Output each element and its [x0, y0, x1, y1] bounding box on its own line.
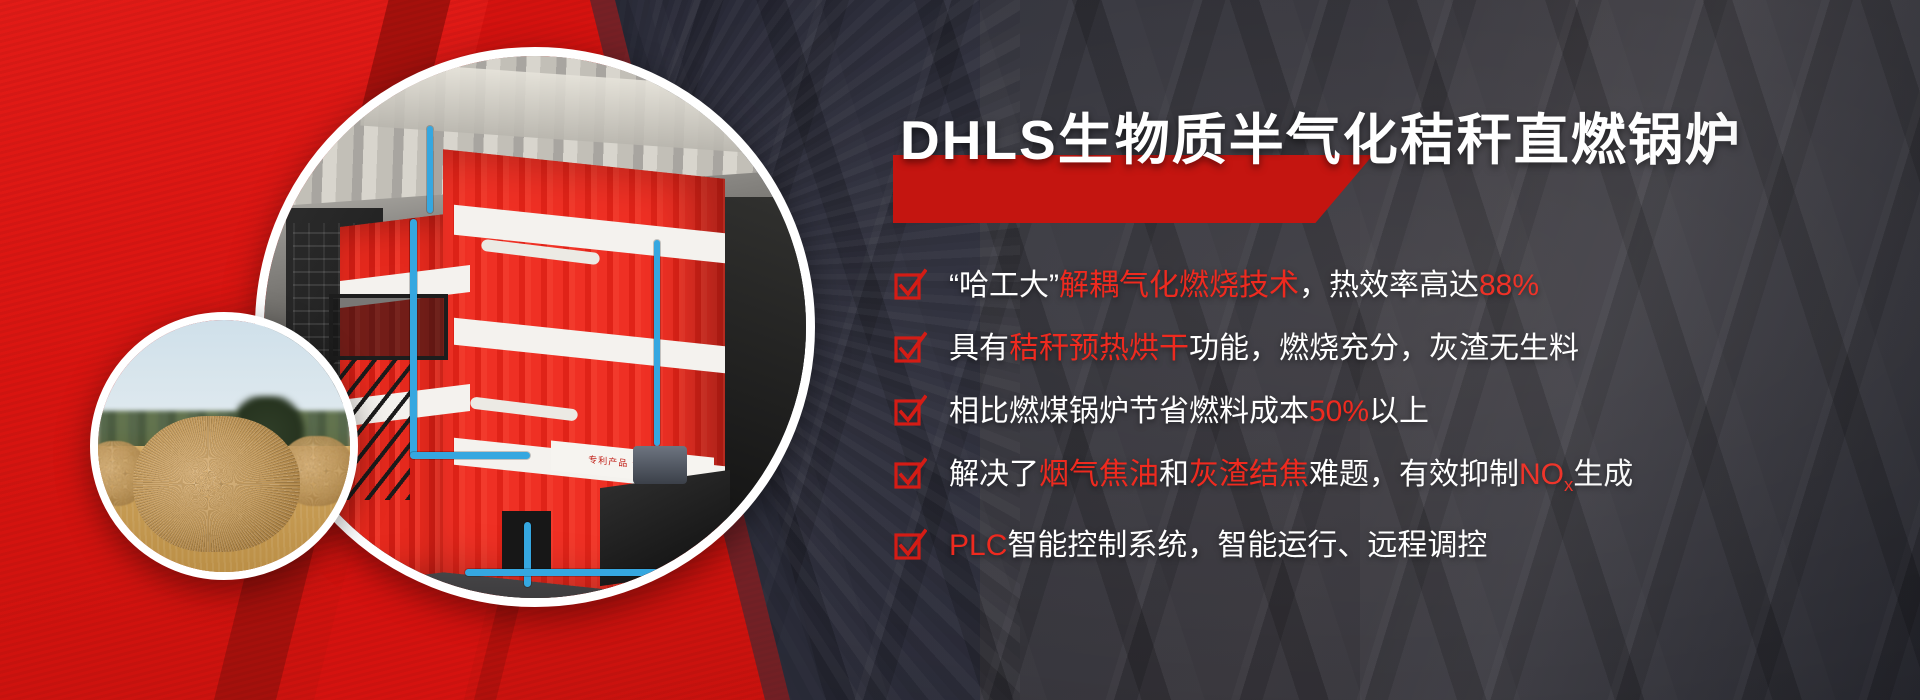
feature-item-1-text: “哈工大”解耦气化燃烧技术，热效率高达88%: [949, 266, 1539, 306]
boiler-blue-pipe: [524, 522, 531, 587]
boiler-feeder-chute: [600, 470, 730, 586]
feature-item-3-text: 相比燃煤锅炉节省燃料成本50%以上: [949, 392, 1429, 432]
page-title: DHLS生物质半气化秸秆直燃锅炉: [900, 95, 1742, 175]
boiler-nameplate-text-1: 专利产品: [589, 453, 629, 470]
feature-item-4: 解决了烟气焦油和灰渣结焦难题，有效抑制NOx生成: [893, 455, 1873, 505]
straw-bale-photo-inner: [98, 320, 350, 572]
feature-item-1: “哈工大”解耦气化燃烧技术，热效率高达88%: [893, 266, 1873, 308]
boiler-motor: [633, 446, 687, 484]
boiler-blue-pipe: [410, 452, 529, 459]
checkbox-checked-icon: [893, 331, 927, 371]
checkbox-checked-icon: [893, 528, 927, 568]
straw-bale-photo: [90, 312, 358, 580]
boiler-blue-pipe: [654, 240, 660, 446]
checkbox-checked-icon: [893, 268, 927, 308]
feature-item-4-text: 解决了烟气焦油和灰渣结焦难题，有效抑制NOx生成: [949, 455, 1633, 505]
feature-list: “哈工大”解耦气化燃烧技术，热效率高达88% 具有秸秆预热烘干功能，燃烧充分，灰…: [893, 266, 1873, 589]
feature-item-5: PLC智能控制系统，智能运行、远程调控: [893, 526, 1873, 568]
product-banner: 专利产品 海伦 利民: [0, 0, 1920, 700]
straw-bale-foreground: [133, 416, 299, 552]
boiler-blue-pipe: [410, 219, 417, 457]
boiler-blue-pipe: [427, 126, 433, 213]
checkbox-checked-icon: [893, 394, 927, 434]
feature-item-2-text: 具有秸秆预热烘干功能，燃烧充分，灰渣无生料: [949, 329, 1579, 369]
boiler-blue-pipe: [465, 569, 703, 576]
feature-item-5-text: PLC智能控制系统，智能运行、远程调控: [949, 526, 1487, 566]
feature-item-3: 相比燃煤锅炉节省燃料成本50%以上: [893, 392, 1873, 434]
checkbox-checked-icon: [893, 457, 927, 497]
feature-item-2: 具有秸秆预热烘干功能，燃烧充分，灰渣无生料: [893, 329, 1873, 371]
